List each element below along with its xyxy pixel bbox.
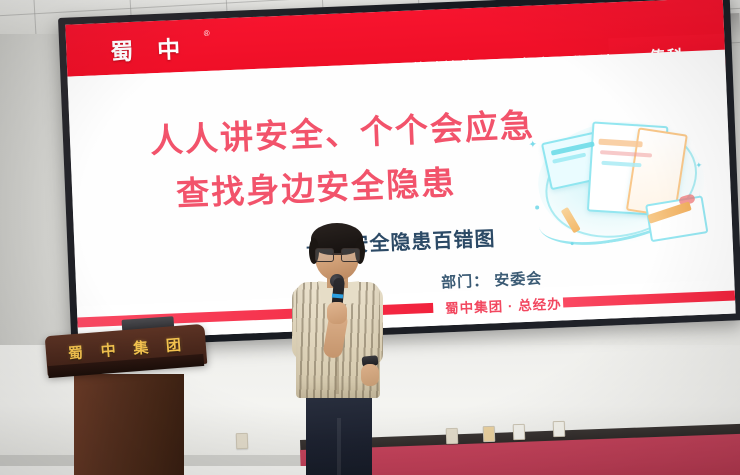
presenter-leg-split <box>337 418 341 475</box>
documents-books-illustration: ✦ ✦ <box>525 102 717 260</box>
glasses-lens-left <box>315 248 334 262</box>
slide-title-line-2: 查找身边安全隐患 <box>175 156 457 215</box>
wall-outlet <box>553 421 566 437</box>
trademark-symbol: ® <box>204 29 210 38</box>
illustration-dot <box>571 242 574 245</box>
slide-title-line-1: 人人讲安全、个个会应急 <box>149 104 535 163</box>
illustration-sparkle-icon: ✦ <box>695 161 702 170</box>
presenter-right-hand <box>361 364 379 386</box>
glasses-bridge <box>332 253 343 255</box>
podium-body <box>74 374 184 475</box>
presenter <box>282 226 394 475</box>
presentation-screen: 蜀 中 ® 施政精药通医畅言互联云计 傣科 <box>58 0 740 348</box>
presentation-scene: 蜀 中 ® 施政精药通医畅言互联云计 傣科 <box>0 0 740 475</box>
slide-surface: 蜀 中 ® 施政精药通医畅言互联云计 傣科 <box>65 0 735 340</box>
wall-outlet <box>236 433 249 449</box>
glasses-lens-right <box>341 248 360 262</box>
presenter-hand-holding-mic <box>327 302 347 324</box>
presenter-glasses <box>315 248 360 260</box>
wall-outlet <box>483 426 496 442</box>
wall-outlet <box>513 424 526 440</box>
microphone-band <box>332 294 343 299</box>
slide-body: ✦ ✦ 人人讲安全、个个会应急 查找身边安全隐患 ——安全隐患百错图 部门： 安… <box>67 50 734 307</box>
wall-outlet <box>446 428 459 444</box>
brand-logo-text: 蜀 中 <box>110 30 190 67</box>
podium: 蜀 中 集 团 <box>46 330 206 475</box>
